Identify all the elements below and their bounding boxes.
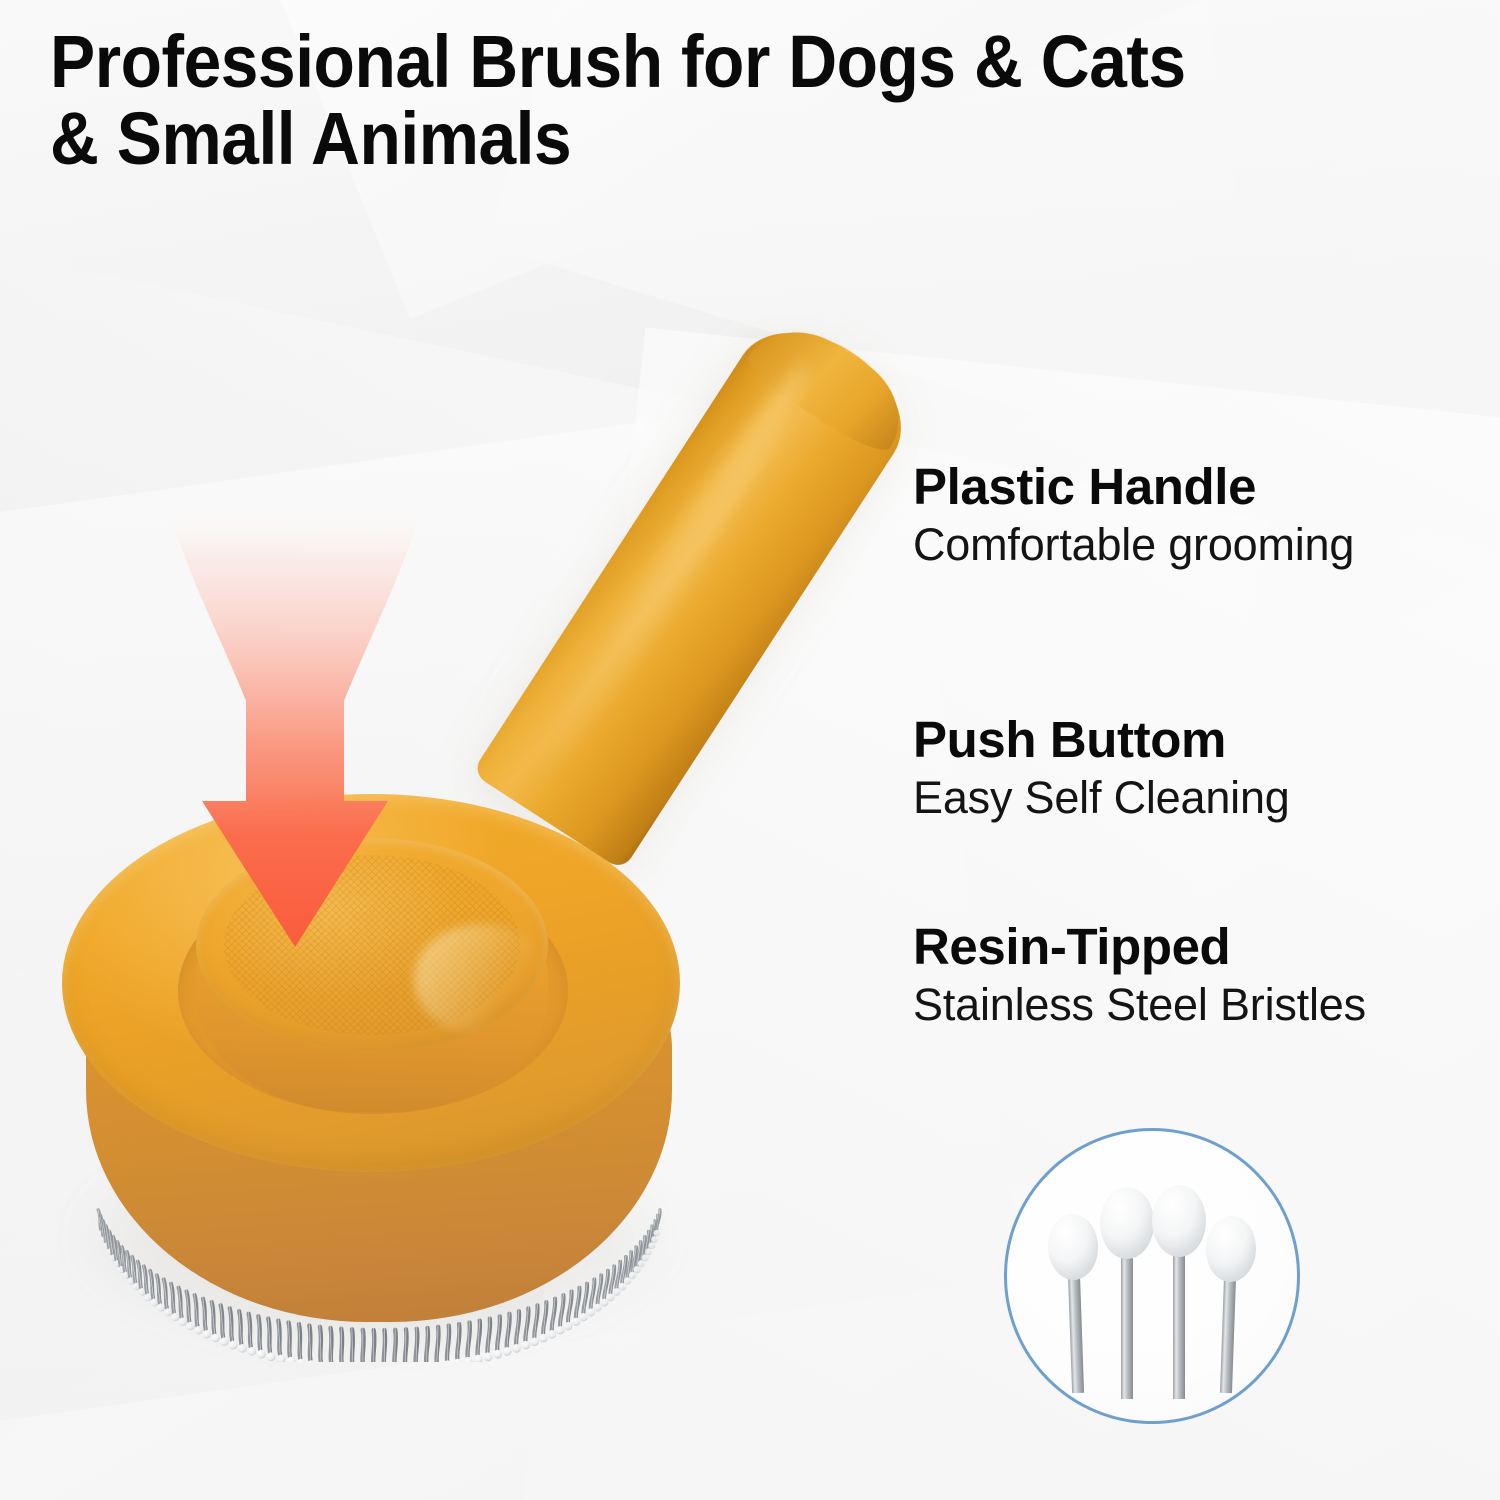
resin-tip-detail-circle xyxy=(1004,1128,1300,1424)
feature-subtitle: Easy Self Cleaning xyxy=(913,773,1290,823)
feature-title: Resin-Tipped xyxy=(913,920,1366,974)
feature-block-resin-tipped: Resin-Tipped Stainless Steel Bristles xyxy=(913,920,1366,1030)
feature-block-plastic-handle: Plastic Handle Comfortable grooming xyxy=(913,460,1354,570)
feature-title: Push Buttom xyxy=(913,713,1290,767)
press-down-arrow-icon xyxy=(150,495,440,950)
feature-block-push-button: Push Buttom Easy Self Cleaning xyxy=(913,713,1290,823)
product-feature-graphic: Professional Brush for Dogs & Cats & Sma… xyxy=(0,0,1500,1500)
page-title: Professional Brush for Dogs & Cats & Sma… xyxy=(50,24,1331,178)
feature-subtitle: Comfortable grooming xyxy=(913,520,1354,570)
feature-subtitle: Stainless Steel Bristles xyxy=(913,980,1366,1030)
feature-title: Plastic Handle xyxy=(913,460,1354,514)
